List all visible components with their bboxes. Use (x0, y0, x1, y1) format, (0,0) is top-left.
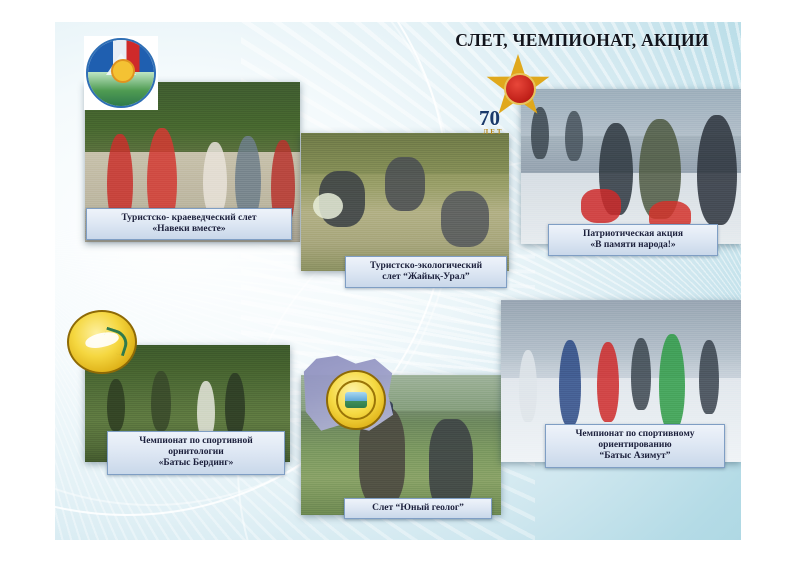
caption-line: Слет “Юный геолог” (353, 503, 483, 514)
caption-line: Чемпионат по спортивному (554, 429, 716, 440)
caption-ornitologiya: Чемпионат по спортивной орнитологии «Бат… (107, 431, 285, 475)
caption-line: Туристско- краеведческий слет (95, 213, 283, 224)
caption-line: ориентированию (554, 440, 716, 451)
caption-line: слет “Жайық-Урал” (354, 272, 498, 283)
photo-turist-ekolog (301, 133, 509, 271)
caption-line: «Батыс Бердинг» (116, 458, 276, 469)
caption-orientirovanie: Чемпионат по спортивному ориентированию … (545, 424, 725, 468)
caption-turist-kraeved: Туристско- краеведческий слет «Навеки вм… (86, 208, 292, 240)
caption-line: Чемпионат по спортивной (116, 436, 276, 447)
main-organization-emblem-icon (84, 36, 158, 110)
caption-line: орнитологии (116, 447, 276, 458)
caption-line: “Батыс Азимут” (554, 451, 716, 462)
slide-title: СЛЕТ, ЧЕМПИОНАТ, АКЦИИ (427, 30, 737, 51)
caption-line: «В памяти народа!» (557, 240, 709, 251)
caption-turist-ekolog: Туристско-экологический слет “Жайық-Урал… (345, 256, 507, 288)
photo-grain-2 (301, 133, 509, 271)
caption-yuny-geolog: Слет “Юный геолог” (344, 498, 492, 519)
victory-70-years-star-icon: 70 ЛЕТ (477, 54, 563, 150)
slide-page: СЛЕТ, ЧЕМПИОНАТ, АКЦИИ (0, 0, 800, 566)
slide-canvas: СЛЕТ, ЧЕМПИОНАТ, АКЦИИ (55, 22, 741, 540)
caption-line: Патриотическая акция (557, 229, 709, 240)
caption-line: Туристско-экологический (354, 261, 498, 272)
caption-patriot-akciya: Патриотическая акция «В памяти народа!» (548, 224, 718, 256)
young-geologist-emblem-icon (300, 352, 396, 444)
batys-birding-emblem-icon (67, 310, 137, 374)
caption-line: «Навеки вместе» (95, 224, 283, 235)
victory-year-sublabel: ЛЕТ (483, 128, 504, 136)
